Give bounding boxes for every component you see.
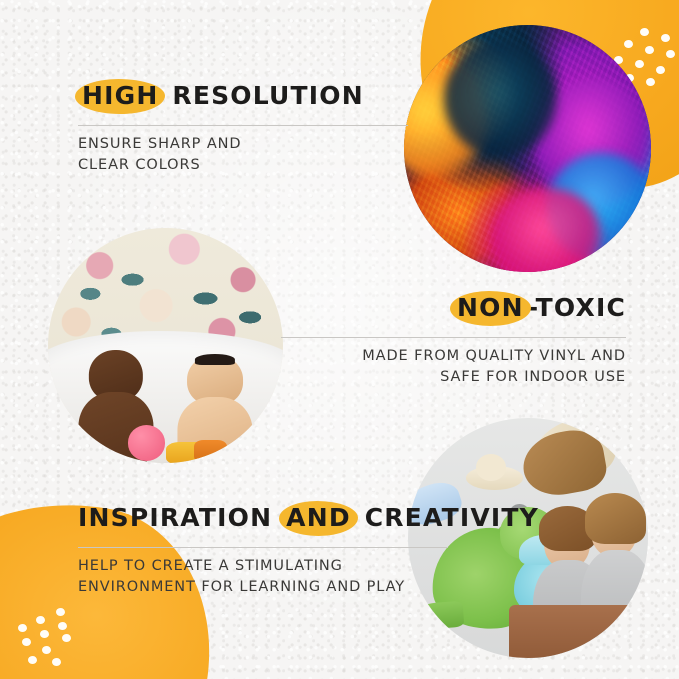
infographic-canvas: HIGH RESOLUTION ENSURE SHARP AND CLEAR C… — [0, 0, 679, 679]
feature-heading-high-resolution: HIGH RESOLUTION — [78, 82, 364, 110]
feature-body-non-toxic-wrap: MADE FROM QUALITY VINYL AND SAFE FOR IND… — [296, 346, 626, 388]
decor-dot — [28, 656, 37, 664]
toy-ball-pink — [128, 425, 166, 460]
decor-dot — [52, 658, 61, 666]
heading-rest: -TOXIC — [528, 293, 626, 322]
decor-dot — [42, 646, 51, 654]
divider-rule-inspiration — [78, 547, 448, 548]
feature-body-high-resolution-wrap: ENSURE SHARP AND CLEAR COLORS — [78, 134, 241, 176]
feature-heading-inspiration: INSPIRATION AND CREATIVITY — [78, 504, 539, 532]
decor-dot — [656, 66, 665, 74]
heading-pre: INSPIRATION — [78, 503, 272, 532]
feature-body-non-toxic: MADE FROM QUALITY VINYL AND SAFE FOR IND… — [296, 346, 626, 388]
feature-body-high-resolution: ENSURE SHARP AND CLEAR COLORS — [78, 134, 241, 176]
divider-rule-non-toxic — [281, 337, 626, 338]
feature-body-inspiration-wrap: HELP TO CREATE A STIMULATING ENVIRONMENT… — [78, 556, 405, 598]
decor-dot — [661, 34, 670, 42]
decor-dot — [58, 622, 67, 630]
decal-cloud — [466, 466, 524, 490]
feature-block-high-resolution: HIGH RESOLUTION — [78, 82, 364, 110]
feature-block-non-toxic: NON-TOXIC — [296, 294, 626, 322]
decor-dot — [18, 624, 27, 632]
decor-dot — [40, 630, 49, 638]
heading-rest: RESOLUTION — [172, 81, 363, 110]
decor-dot — [36, 616, 45, 624]
decor-dot — [62, 634, 71, 642]
heading-highlight: HIGH — [78, 82, 162, 110]
divider-rule-high-resolution — [78, 125, 408, 126]
abstract-colorful-fluid-art-circle — [404, 25, 651, 272]
heading-highlight: NON — [453, 294, 528, 322]
dot-cluster-bottom-left — [18, 608, 80, 670]
kids-with-dinosaur-wall-decals-circle — [408, 418, 648, 658]
feature-block-inspiration: INSPIRATION AND CREATIVITY — [78, 504, 539, 532]
decor-dot — [666, 50, 675, 58]
toy-orange — [194, 440, 227, 464]
heading-rest: CREATIVITY — [365, 503, 539, 532]
feature-body-inspiration: HELP TO CREATE A STIMULATING ENVIRONMENT… — [78, 556, 405, 598]
wooden-table — [509, 605, 648, 658]
decor-dot — [56, 608, 65, 616]
child-front-hair — [585, 493, 645, 544]
abstract-swirl-navy — [444, 40, 558, 159]
decor-dot — [22, 638, 31, 646]
feature-heading-non-toxic: NON-TOXIC — [453, 294, 626, 322]
heading-highlight: AND — [282, 504, 355, 532]
baby-right-hair — [195, 354, 235, 365]
babies-on-floral-wallpaper-circle — [48, 228, 283, 463]
